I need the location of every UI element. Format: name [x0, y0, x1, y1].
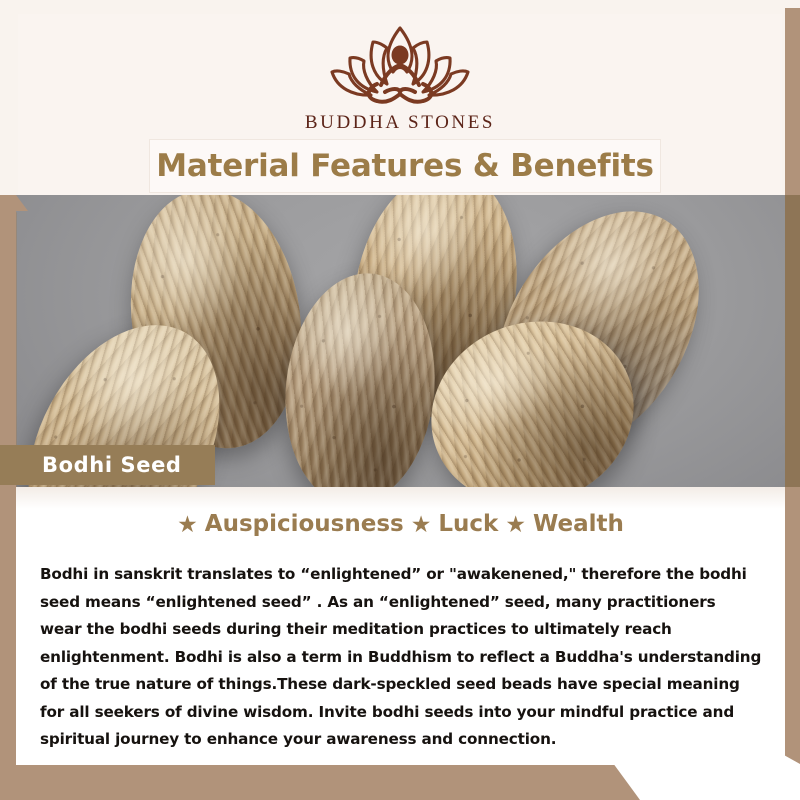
benefit-auspiciousness: Auspiciousness	[202, 511, 407, 537]
frame-accent-right-shade	[785, 195, 800, 487]
brand-logo: BUDDHA STONES	[0, 22, 800, 134]
product-info-poster: BUDDHA STONES Material Features & Benefi…	[0, 0, 800, 800]
product-photo	[0, 195, 800, 487]
lotus-meditation-figure-icon	[307, 22, 493, 110]
page-title: Material Features & Benefits	[156, 148, 654, 184]
star-icon: ★	[407, 512, 436, 538]
benefits-headline: ★Auspiciousness★Luck★Wealth	[0, 511, 800, 538]
product-name-label: Bodhi Seed	[0, 453, 182, 477]
title-banner: Material Features & Benefits	[150, 140, 660, 192]
panel-top-fade	[0, 487, 800, 509]
brand-name: BUDDHA STONES	[0, 112, 800, 134]
star-icon: ★	[173, 512, 202, 538]
description-panel: ★Auspiciousness★Luck★Wealth Bodhi in san…	[0, 487, 800, 800]
product-name-badge: Bodhi Seed	[0, 445, 215, 485]
star-icon: ★	[501, 512, 530, 538]
frame-accent-bottom	[0, 765, 640, 800]
description-paragraph: Bodhi in sanskrit translates to “enlight…	[40, 561, 762, 754]
frame-accent-left	[0, 195, 16, 800]
benefit-luck: Luck	[435, 511, 501, 537]
benefit-wealth: Wealth	[530, 511, 627, 537]
